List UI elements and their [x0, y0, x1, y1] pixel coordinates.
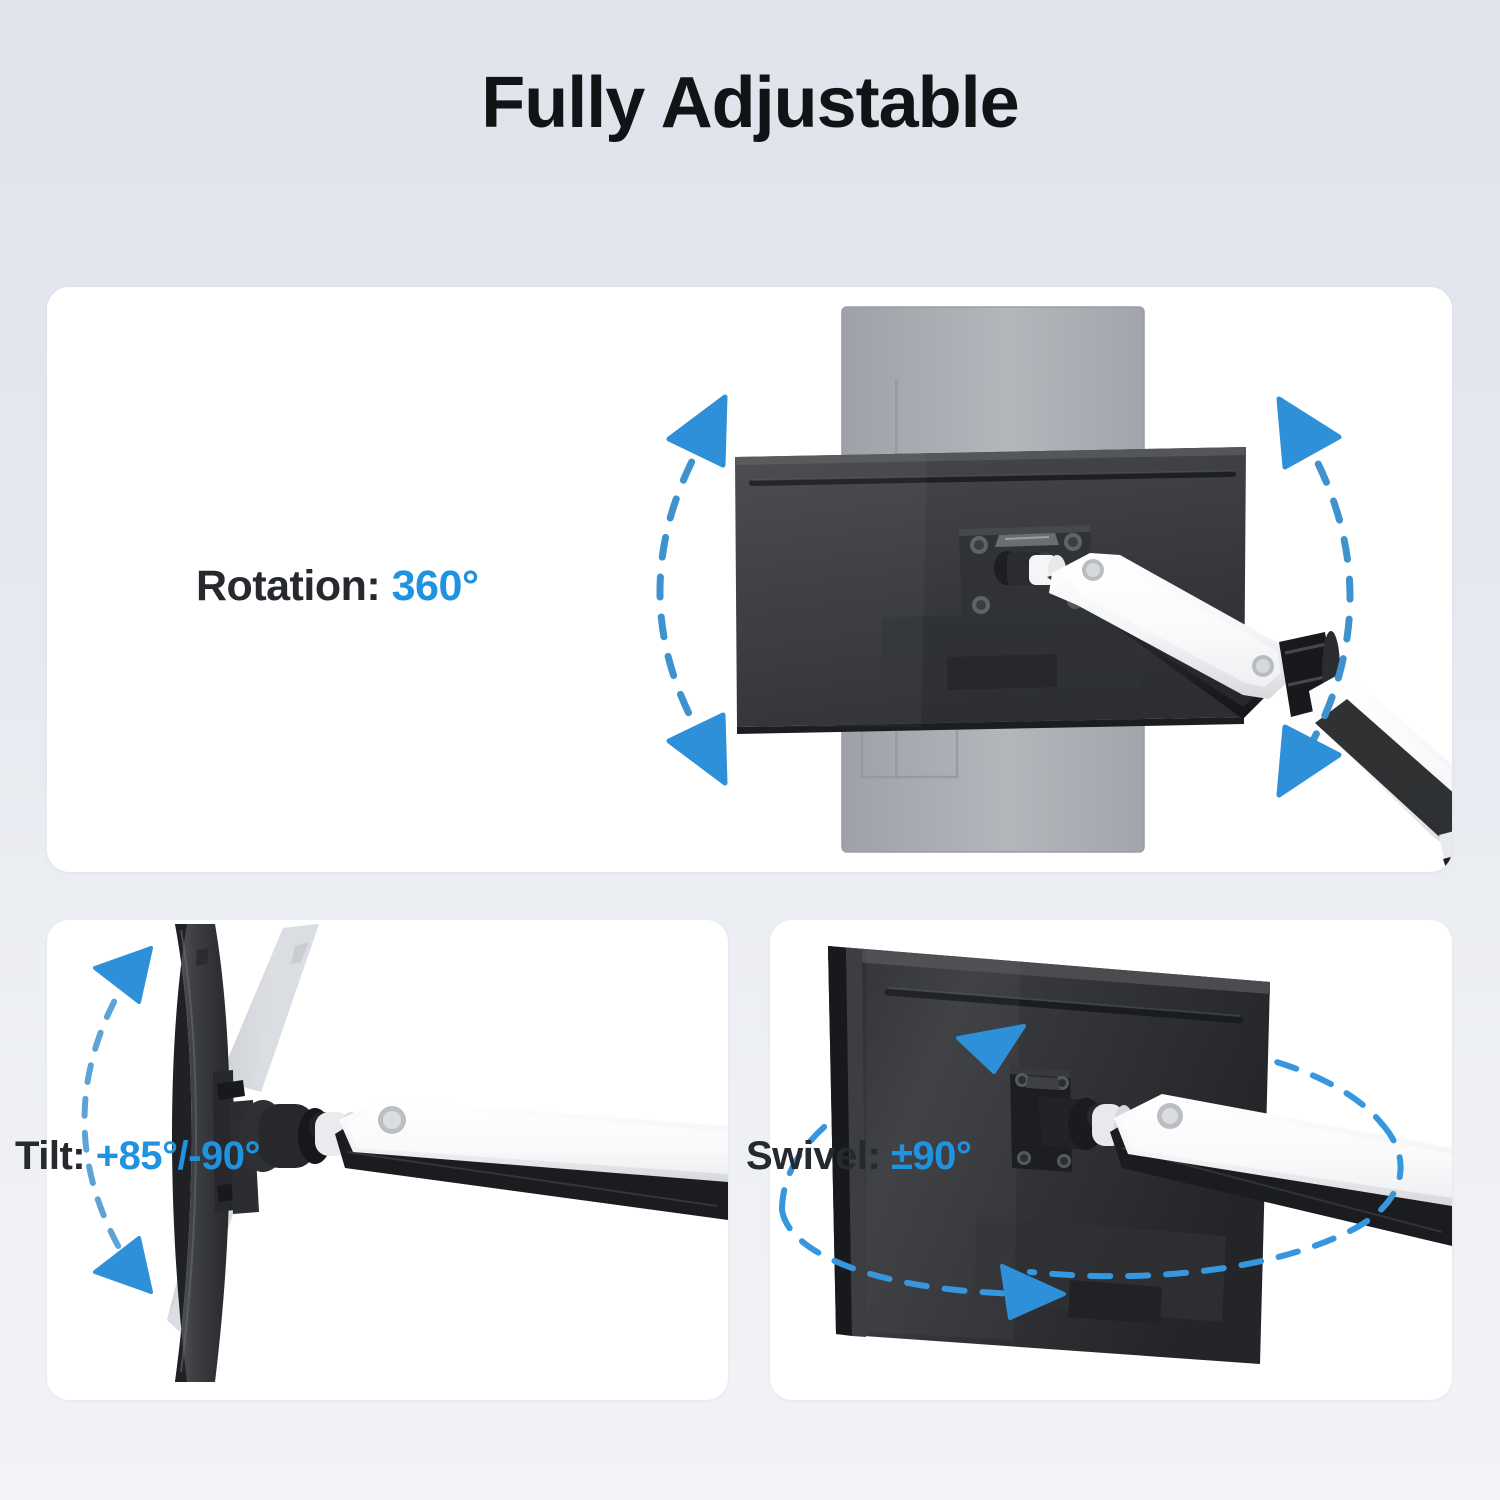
label-rotation-prefix: Rotation: [196, 562, 392, 610]
gas-spring-arm [335, 1098, 728, 1220]
page-title: Fully Adjustable [0, 62, 1500, 144]
label-tilt-value: +85°/-90° [96, 1134, 260, 1178]
label-rotation-value: 360° [392, 562, 479, 610]
label-swivel-prefix: Swivel: [746, 1134, 891, 1178]
label-rotation: Rotation: 360° [196, 562, 479, 611]
rotation-arc-left [660, 397, 725, 783]
label-tilt: Tilt: +85°/-90° [15, 1134, 260, 1179]
infographic-page: Fully Adjustable [0, 0, 1500, 1500]
ghost-monitor-tilt-up [219, 924, 319, 1092]
label-tilt-prefix: Tilt: [15, 1134, 96, 1178]
label-swivel-value: ±90° [891, 1134, 971, 1178]
label-swivel: Swivel: ±90° [746, 1134, 971, 1179]
tilt-arc [85, 948, 152, 1292]
